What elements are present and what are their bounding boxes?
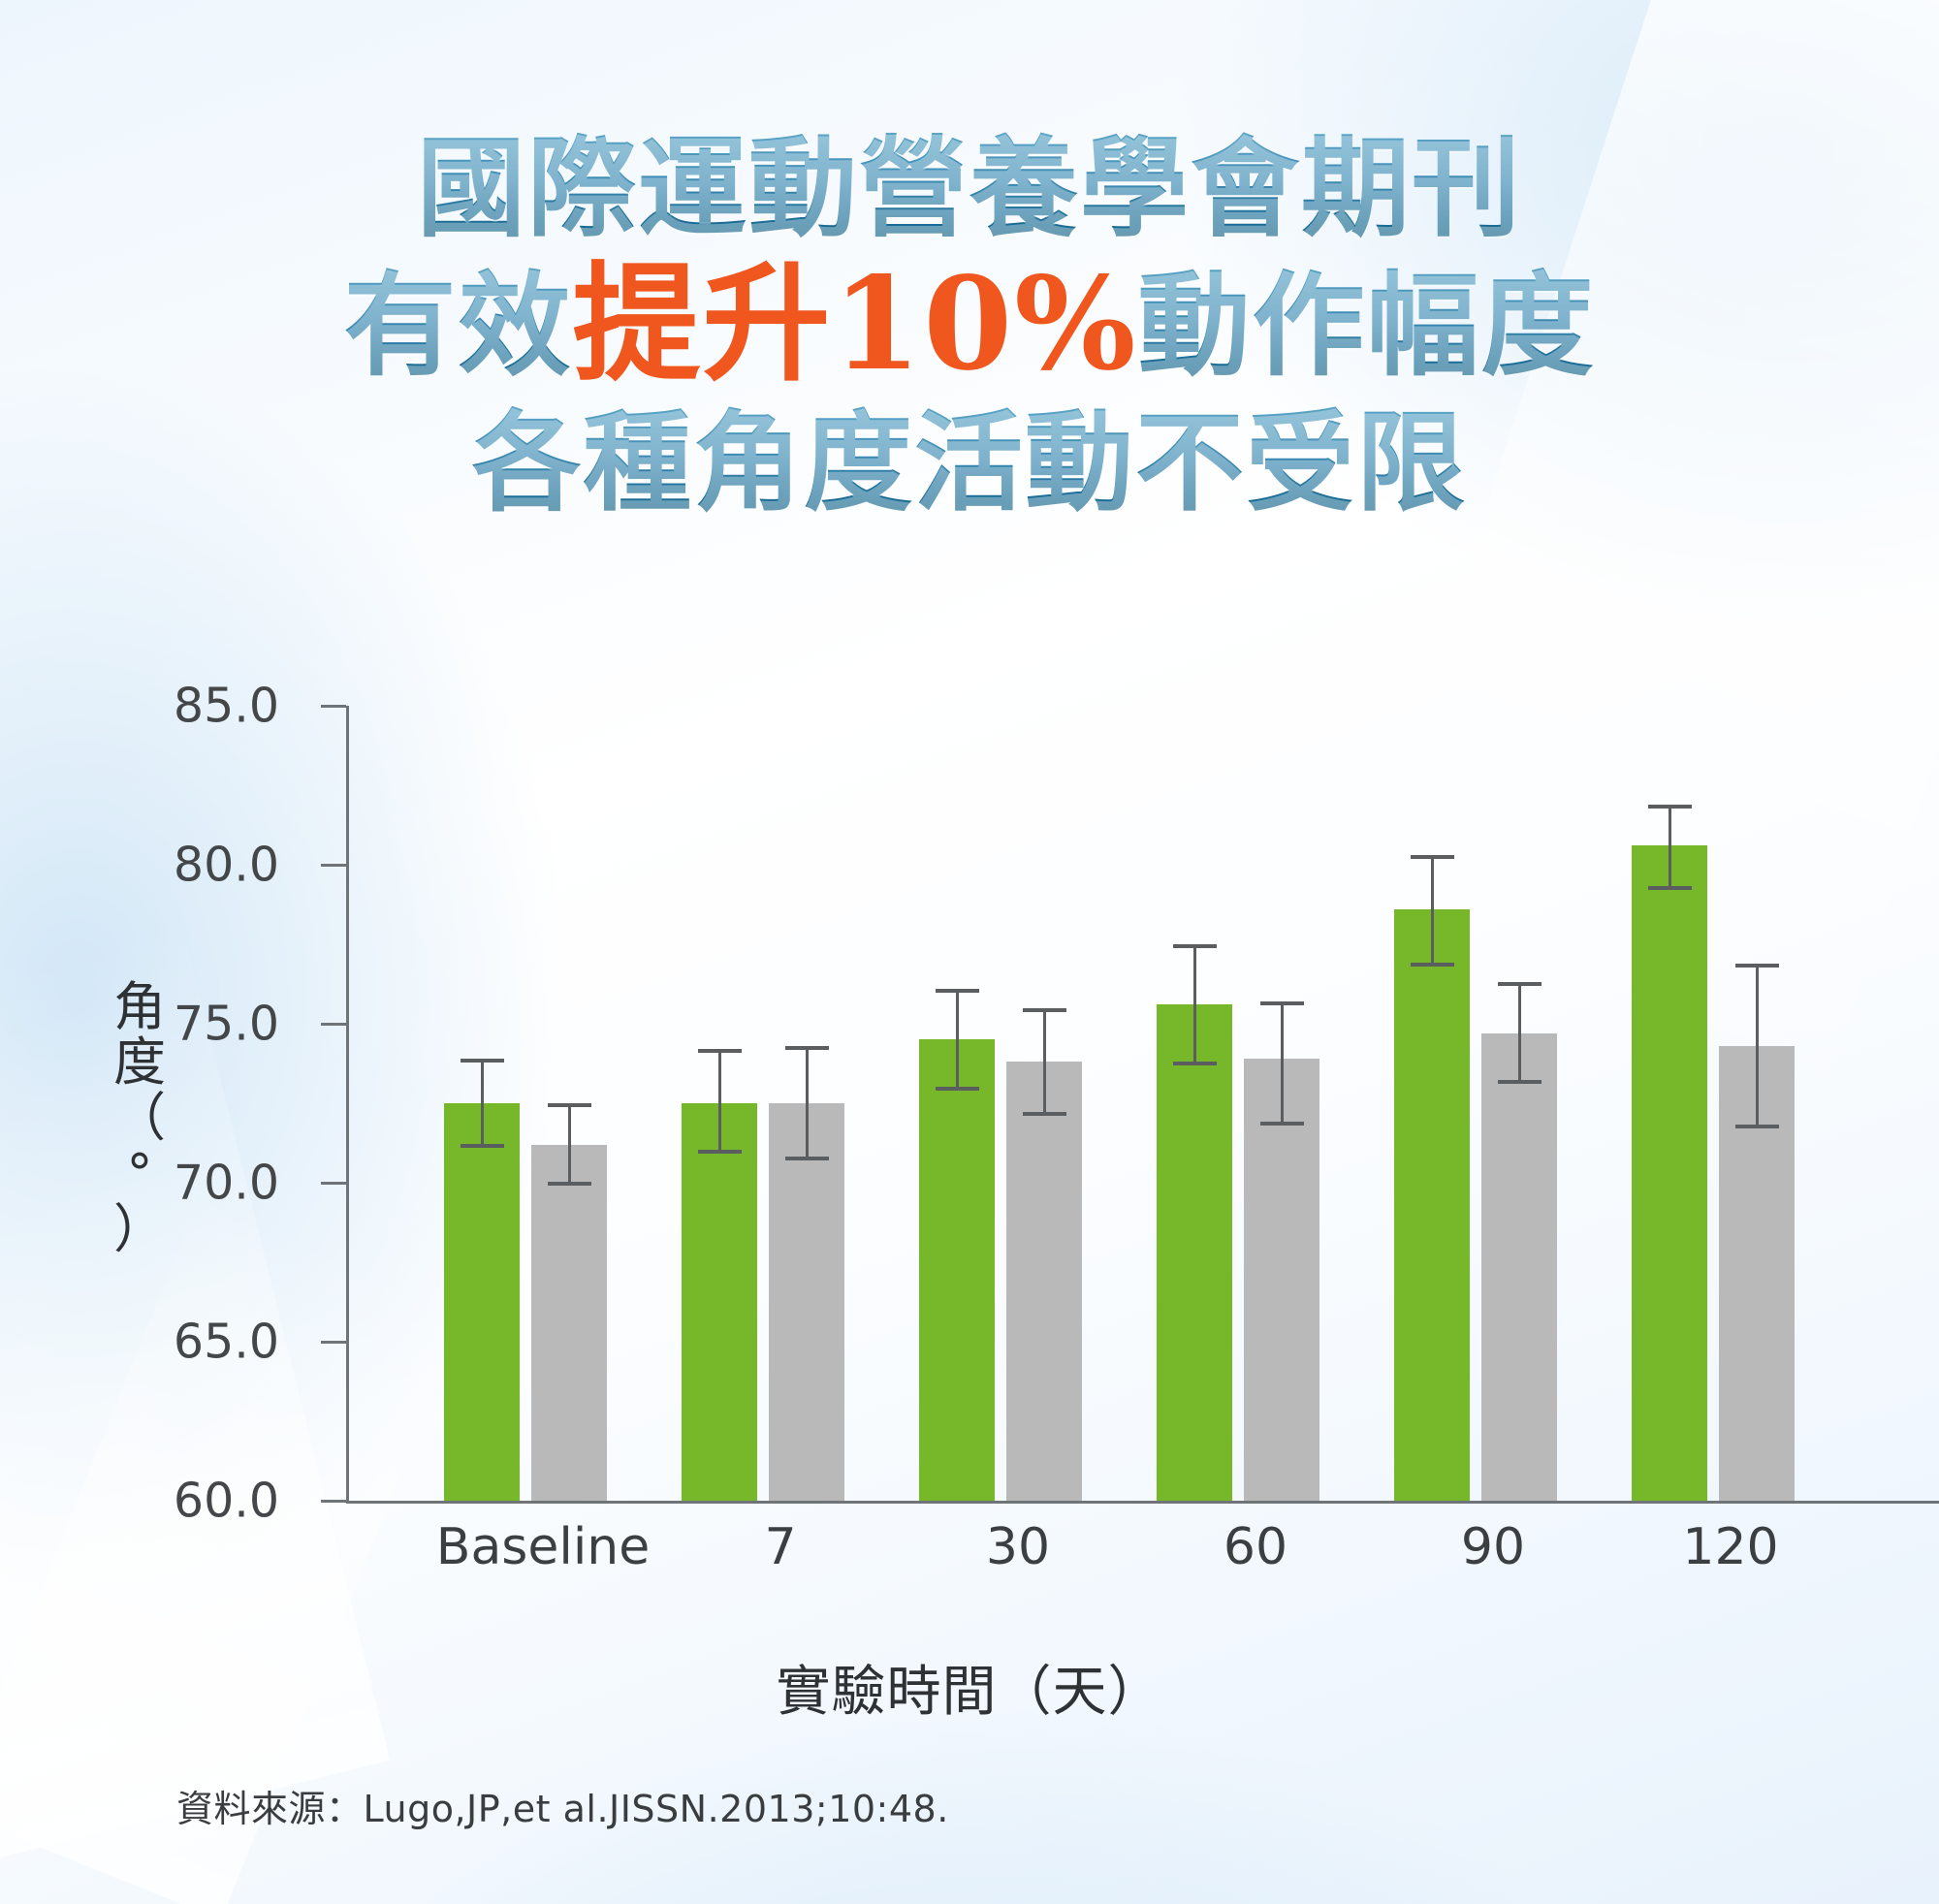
bar-grey — [769, 1103, 844, 1501]
y-axis-tick-label: 85.0 — [0, 679, 279, 734]
bar-group — [900, 706, 1137, 1501]
bar-grey — [1481, 1033, 1557, 1501]
x-axis-label: 120 — [1585, 1518, 1876, 1576]
error-bar — [718, 1049, 721, 1154]
error-bar-cap — [936, 989, 979, 993]
error-bar-cap — [1648, 805, 1692, 809]
bar-green — [682, 1103, 757, 1501]
headline-block: 國際運動營養學會期刊 有效提升10%動作幅度 各種角度活動不受限 — [0, 128, 1939, 524]
headline-line-1: 國際運動營養學會期刊 — [0, 128, 1939, 249]
error-bar — [1193, 944, 1196, 1065]
error-bar-cap — [1023, 1112, 1066, 1116]
bar-green — [1394, 909, 1470, 1501]
y-axis-title-char: 度 — [93, 1034, 186, 1090]
y-axis-tick — [321, 1341, 346, 1344]
y-axis-title-char: ° — [93, 1146, 186, 1201]
error-bar-cap — [548, 1182, 591, 1186]
error-bar-cap — [785, 1046, 829, 1050]
source-citation: 資料來源：Lugo,JP,et al.JISSN.2013;10:48. — [176, 1779, 949, 1832]
error-bar — [956, 989, 959, 1091]
error-bar-cap — [1023, 1008, 1066, 1012]
headline-highlight: 提升10% — [572, 249, 1137, 399]
error-bar-cap — [1260, 1122, 1304, 1126]
x-axis-line — [346, 1501, 1939, 1504]
error-bar-cap — [1735, 964, 1779, 968]
y-axis-title-char: 角 — [93, 979, 186, 1034]
y-axis-title-char: （ — [93, 1090, 186, 1145]
y-axis-tick — [321, 705, 346, 708]
error-bar-cap — [1648, 886, 1692, 890]
error-bar — [1756, 964, 1759, 1129]
error-bar — [1431, 855, 1434, 967]
error-bar-cap — [1411, 963, 1454, 967]
bar-green — [1632, 845, 1707, 1501]
bar-group — [662, 706, 900, 1501]
error-bar — [568, 1103, 571, 1186]
infographic-page: 國際運動營養學會期刊 有效提升10%動作幅度 各種角度活動不受限 85.080.… — [0, 0, 1939, 1904]
y-axis-tick — [321, 1500, 346, 1503]
error-bar — [1518, 982, 1521, 1084]
y-axis-tick — [321, 1023, 346, 1026]
y-axis-tick-label: 80.0 — [0, 838, 279, 893]
headline-line-2-prefix: 有效 — [343, 260, 572, 392]
error-bar-cap — [1498, 982, 1542, 986]
error-bar-cap — [698, 1049, 742, 1053]
error-bar-cap — [936, 1087, 979, 1091]
error-bar — [806, 1046, 809, 1160]
headline-line-2: 有效提升10%動作幅度 — [0, 253, 1939, 397]
error-bar-cap — [1173, 1062, 1217, 1065]
bar-grey — [1006, 1062, 1082, 1501]
bar-group — [1612, 706, 1850, 1501]
bar-grey — [531, 1145, 607, 1501]
bar-group — [1137, 706, 1375, 1501]
bar-green — [444, 1103, 520, 1501]
error-bar-cap — [1735, 1125, 1779, 1128]
error-bar — [1043, 1008, 1046, 1117]
error-bar-cap — [1173, 944, 1217, 948]
y-axis-tick — [321, 1182, 346, 1185]
error-bar — [1281, 1001, 1284, 1126]
bar-chart: 85.080.075.070.065.060.0 Baseline7306090… — [0, 679, 1939, 1648]
plot-area — [349, 706, 1939, 1501]
y-axis-title: 角度（°） — [93, 979, 186, 1256]
error-bar-cap — [461, 1144, 504, 1148]
y-axis-tick-label: 65.0 — [0, 1315, 279, 1370]
bar-group — [425, 706, 662, 1501]
error-bar-cap — [1260, 1001, 1304, 1005]
y-axis-tick — [321, 864, 346, 867]
error-bar-cap — [698, 1150, 742, 1154]
error-bar-cap — [1411, 855, 1454, 859]
x-axis-title: 實驗時間（天） — [0, 1648, 1939, 1727]
error-bar-cap — [785, 1157, 829, 1160]
error-bar-cap — [461, 1059, 504, 1063]
headline-line-3: 各種角度活動不受限 — [0, 402, 1939, 524]
bar-green — [919, 1039, 995, 1501]
headline-line-2-suffix: 動作幅度 — [1138, 260, 1596, 392]
error-bar-cap — [1498, 1080, 1542, 1084]
y-axis-title-char: ） — [93, 1201, 186, 1256]
y-axis-tick-label: 60.0 — [0, 1474, 279, 1529]
error-bar — [1669, 805, 1671, 891]
bar-green — [1157, 1004, 1232, 1501]
bar-group — [1375, 706, 1612, 1501]
error-bar-cap — [548, 1103, 591, 1107]
error-bar — [481, 1059, 484, 1148]
